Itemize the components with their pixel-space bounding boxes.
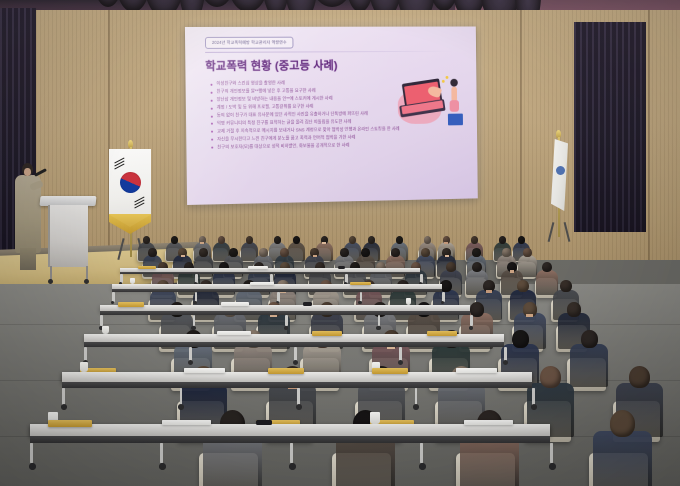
audience-member-neck xyxy=(181,255,185,257)
audience-member-head xyxy=(361,248,369,257)
audience-member-neck xyxy=(322,242,326,244)
audience-member-neck xyxy=(510,270,515,272)
yellow-folder xyxy=(48,420,92,427)
curtain-swag xyxy=(313,0,351,7)
yellow-folder xyxy=(427,331,457,336)
laptop-and-person-illustration xyxy=(396,73,470,150)
audience-member-head xyxy=(368,236,375,244)
yellow-folder xyxy=(350,282,371,286)
audience-member-head xyxy=(542,262,552,272)
paper-handout xyxy=(184,368,225,373)
audience-member-head xyxy=(440,280,451,292)
desk-leg xyxy=(550,443,553,463)
yellow-folder xyxy=(138,266,156,269)
audience-member-head xyxy=(293,236,300,244)
desk-leg xyxy=(532,388,535,405)
audience-desk xyxy=(100,305,470,311)
audience-desk xyxy=(112,284,442,289)
desk-leg xyxy=(297,388,300,405)
audience-member-neck xyxy=(445,255,449,257)
desk-leg xyxy=(470,315,473,327)
auditorium-photo: 2024년 학교폭력예방 학교관리자 역량연수 학교폭력 현황 (중고등 사례)… xyxy=(0,0,680,486)
audience-member-head xyxy=(274,236,281,244)
audience-member-head xyxy=(499,236,506,244)
desk-caster xyxy=(419,463,426,470)
desk-leg xyxy=(193,315,196,327)
audience-member-head xyxy=(581,330,598,348)
audience-member-neck xyxy=(526,314,533,317)
audience-member-head xyxy=(610,410,635,437)
audience-member-head xyxy=(629,366,650,388)
paper-handout xyxy=(217,331,251,335)
audience-member-head xyxy=(523,248,531,257)
desk-caster xyxy=(358,301,362,305)
desk-caster xyxy=(29,463,36,470)
yellow-folder xyxy=(372,368,408,374)
audience-member-torso xyxy=(570,344,608,388)
audience-member-head xyxy=(199,248,207,257)
smartphone xyxy=(256,420,272,426)
desk-caster xyxy=(503,360,508,365)
audience-desk xyxy=(120,268,420,272)
desk-caster xyxy=(398,360,403,365)
audience-member-head xyxy=(472,248,480,257)
desk-leg xyxy=(415,388,418,405)
audience-member-neck xyxy=(313,255,317,257)
audience-member-head xyxy=(518,236,525,244)
desk-caster xyxy=(289,463,296,470)
taeguk-circle xyxy=(120,172,141,193)
paper-cup xyxy=(102,326,109,334)
desk-leg xyxy=(84,347,87,361)
paper-handout xyxy=(221,302,250,305)
audience-member-head xyxy=(246,236,253,244)
paper-handout xyxy=(162,420,211,426)
yellow-folder xyxy=(268,368,304,374)
desk-caster xyxy=(293,360,298,365)
paper-handout xyxy=(248,266,268,268)
desk-leg xyxy=(399,347,402,361)
smartphone xyxy=(338,266,345,268)
lectern-body xyxy=(48,205,88,267)
speaker-face xyxy=(24,168,31,176)
audience-member-neck xyxy=(486,290,492,293)
audience-member xyxy=(203,410,262,486)
desk-leg xyxy=(100,315,103,327)
desk-caster xyxy=(549,463,556,470)
audience-member-neck xyxy=(444,242,448,244)
desk-leg xyxy=(294,347,297,361)
audience-member-head xyxy=(446,262,456,272)
desk-caster xyxy=(193,301,197,305)
lectern-leg xyxy=(86,266,88,280)
stage-curtain-right xyxy=(574,22,646,232)
desk-leg xyxy=(420,443,423,463)
audience-desk xyxy=(30,424,550,436)
audience-member-head xyxy=(560,280,571,292)
audience-member-head xyxy=(540,366,561,388)
audience-member-head xyxy=(517,280,528,292)
audience-member-head xyxy=(567,302,581,317)
paper-cup xyxy=(130,278,135,284)
audience-member-head xyxy=(424,236,431,244)
slide-badge: 2024년 학교폭력예방 학교관리자 역량연수 xyxy=(205,37,294,49)
smartphone xyxy=(303,302,312,305)
speaker-lower-body xyxy=(20,248,36,270)
slide-title: 학교폭력 현황 (중고등 사례) xyxy=(205,57,338,74)
audience-member-head xyxy=(229,248,237,257)
yellow-folder xyxy=(312,331,342,336)
desk-caster xyxy=(296,404,302,410)
audience-member-head xyxy=(512,330,529,348)
audience-member xyxy=(593,410,652,486)
lectern-leg xyxy=(50,266,52,280)
desk-surface xyxy=(30,424,550,436)
audience-member-head xyxy=(218,236,225,244)
desk-leg xyxy=(378,315,381,327)
slide-divider xyxy=(205,51,454,53)
audience-member-neck xyxy=(200,242,204,244)
desk-caster xyxy=(188,360,193,365)
desk-leg xyxy=(290,443,293,463)
audience-member-head xyxy=(349,236,356,244)
desk-leg xyxy=(62,388,65,405)
desk-caster xyxy=(159,463,166,470)
paper-handout xyxy=(456,368,497,373)
audience-member-head xyxy=(340,248,348,257)
audience-member-head xyxy=(280,248,288,257)
audience-member-head xyxy=(259,248,267,257)
projected-slide: 2024년 학교폭력예방 학교관리자 역량연수 학교폭력 현황 (중고등 사례)… xyxy=(185,26,478,204)
audience-member-head xyxy=(143,236,150,244)
institution-flag-emblem xyxy=(556,166,565,175)
desk-caster xyxy=(284,326,288,330)
audience-member xyxy=(570,330,608,391)
audience-member-head xyxy=(472,262,482,272)
paper-handout xyxy=(250,282,274,285)
desk-caster xyxy=(61,404,67,410)
desk-leg xyxy=(285,315,288,327)
yellow-folder xyxy=(118,302,144,306)
desk-leg xyxy=(504,347,507,361)
paper-handout xyxy=(464,420,513,426)
desk-leg xyxy=(30,443,33,463)
curtain-swag xyxy=(95,0,121,7)
desk-caster xyxy=(531,404,537,410)
audience-member-head xyxy=(171,236,178,244)
desk-leg xyxy=(160,443,163,463)
paper-cup xyxy=(370,412,380,424)
audience-member-torso xyxy=(593,431,652,486)
audience-member-head xyxy=(471,236,478,244)
desk-modesty-panel xyxy=(30,436,550,443)
desk-leg xyxy=(189,347,192,361)
audience-member-head xyxy=(148,248,156,257)
audience-member-head xyxy=(391,248,399,257)
desk-leg xyxy=(180,388,183,405)
paper-cup xyxy=(80,362,88,372)
curtain-swag xyxy=(201,0,233,7)
audience-member-head xyxy=(396,236,403,244)
audience-member-head xyxy=(502,248,510,257)
audience-member-head xyxy=(421,248,429,257)
